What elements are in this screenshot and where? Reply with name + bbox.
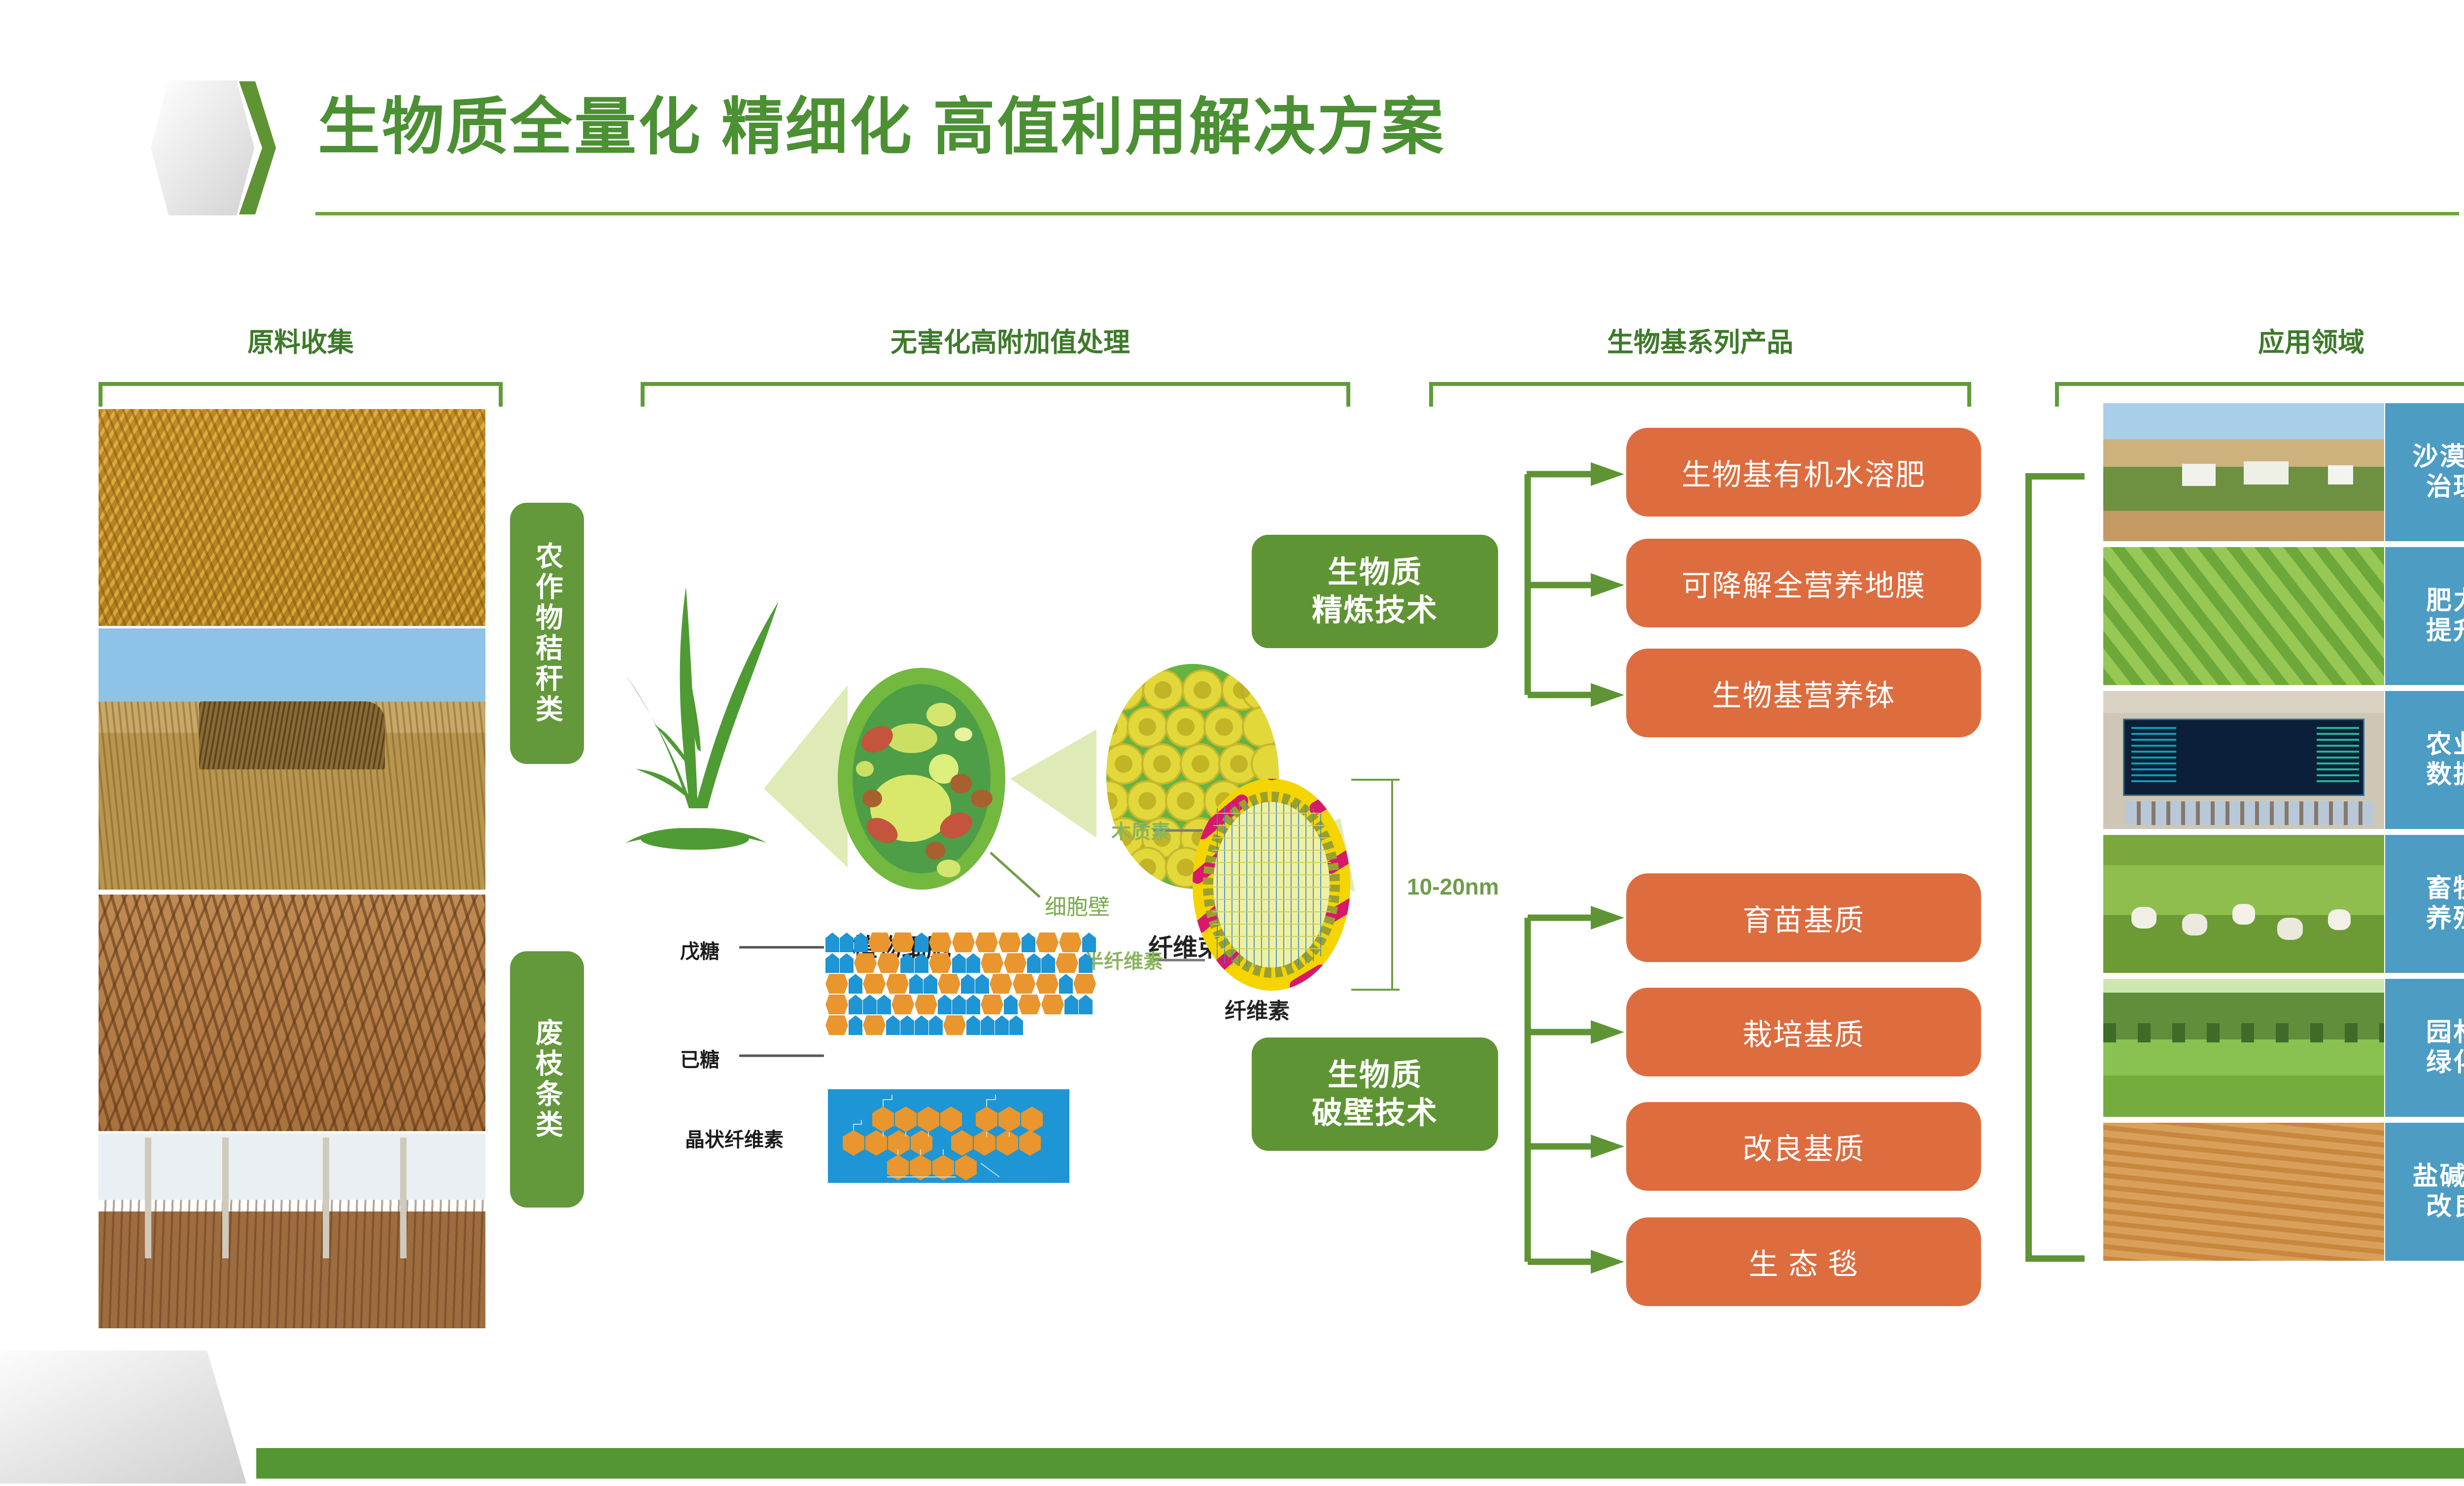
- application-photo-data-center: [2103, 691, 2384, 829]
- pentose-label: 戊糖: [680, 935, 719, 964]
- feedstock-tab-waste-branch[interactable]: 废枝条类: [510, 951, 584, 1208]
- feedstock-tab-crop-straw[interactable]: 农作物秸秆类: [510, 503, 584, 764]
- feedstock-photo-straw-bale: [99, 628, 485, 890]
- app-label-line-1: 农业: [2426, 730, 2464, 760]
- product-pill-water-soluble-fertilizer[interactable]: 生物基有机水溶肥: [1626, 428, 1981, 517]
- grass-plant-icon: [626, 587, 779, 850]
- app-label-line-2: 绿化: [2426, 1048, 2464, 1078]
- tech-line-2: 精炼技术: [1312, 591, 1438, 630]
- application-photo-saline-land: [2103, 1123, 2384, 1261]
- product-pill-cultivation-substrate[interactable]: 栽培基质: [1626, 988, 1981, 1076]
- section-heading-applications: 应用领域: [2104, 320, 2464, 359]
- footer-bar: [256, 1448, 2464, 1479]
- tech-line-2: 破壁技术: [1312, 1094, 1438, 1133]
- feedstock-photo-orchard: [99, 1134, 485, 1328]
- application-label-fertility[interactable]: 肥力 提升: [2385, 547, 2464, 685]
- product-pill-eco-blanket[interactable]: 生 态 毯: [1626, 1217, 1981, 1306]
- cellulose-label: 纤维素: [1225, 993, 1290, 1025]
- cellulose-core: [1213, 802, 1330, 968]
- app-label-line-1: 沙漠化: [2412, 442, 2464, 472]
- tech-line-1: 生物质: [1328, 553, 1422, 592]
- app-label-line-2: 数据: [2426, 760, 2464, 790]
- app-label-line-2: 养殖: [2426, 904, 2464, 934]
- application-label-agri-data[interactable]: 农业 数据: [2385, 691, 2464, 829]
- application-label-livestock[interactable]: 畜牧 养殖: [2385, 835, 2464, 973]
- application-photo-cabbage-field: [2103, 547, 2384, 685]
- hexose-label: 已糖: [680, 1044, 719, 1072]
- app-label-line-1: 畜牧: [2426, 874, 2464, 904]
- title-underline: [315, 212, 2459, 215]
- lignin-label: 木质素: [1111, 816, 1170, 844]
- feedstock-photo-corn-stalk: [99, 409, 485, 626]
- crystalline-cellulose-label: 晶状纤维素: [685, 1124, 784, 1152]
- bracket-products: [1429, 382, 1971, 407]
- magnify-cone: [1010, 729, 1096, 838]
- application-label-saline-improvement[interactable]: 盐碱地 改良: [2385, 1123, 2464, 1261]
- app-label-line-1: 园林: [2426, 1018, 2464, 1048]
- page-title: 生物质全量化 精细化 高值利用解决方案: [318, 96, 1445, 158]
- application-photo-desert-control: [2103, 403, 2384, 541]
- product-pill-seedling-substrate[interactable]: 育苗基质: [1626, 873, 1981, 962]
- trellis-post: [400, 1138, 407, 1258]
- applications-bracket: [2025, 473, 2085, 1262]
- plant-cell-diagram: [838, 668, 1005, 890]
- product-pill-nutrient-pot[interactable]: 生物基营养钵: [1626, 649, 1981, 737]
- app-label-line-1: 肥力: [2426, 586, 2464, 616]
- footer-hex-decoration: [0, 1331, 276, 1484]
- product-pill-degradable-mulch-film[interactable]: 可降解全营养地膜: [1626, 539, 1981, 627]
- trellis-post: [222, 1138, 229, 1258]
- application-label-desert-control[interactable]: 沙漠化 治理: [2385, 403, 2464, 541]
- section-heading-products: 生物基系列产品: [1404, 320, 1996, 359]
- app-label-line-1: 盐碱地: [2412, 1162, 2464, 1192]
- application-photo-landscape-green: [2103, 979, 2384, 1117]
- straw-bale-shape: [199, 701, 385, 769]
- dimension-bracket: [1351, 780, 1400, 990]
- bracket-collection: [99, 382, 503, 407]
- app-label-line-2: 治理: [2426, 472, 2464, 502]
- section-heading-collection: 原料收集: [148, 320, 453, 359]
- tech-line-1: 生物质: [1328, 1056, 1422, 1095]
- sugar-chain-illustration: {}: [680, 927, 1124, 1203]
- bracket-processing: [641, 382, 1350, 407]
- trellis-post: [323, 1138, 329, 1258]
- app-label-line-2: 改良: [2426, 1192, 2464, 1222]
- product-pill-improvement-substrate[interactable]: 改良基质: [1626, 1102, 1981, 1191]
- technology-pill-wallbreaking[interactable]: 生物质 破壁技术: [1252, 1037, 1498, 1151]
- section-heading-processing: 无害化高附加值处理: [517, 320, 1503, 359]
- crystalline-cellulose-panel: [828, 1089, 1069, 1183]
- technology-pill-refining[interactable]: 生物质 精炼技术: [1252, 535, 1498, 648]
- magnify-cone: [764, 685, 848, 867]
- header-hex-decoration: [133, 76, 276, 219]
- trellis-post: [145, 1138, 151, 1258]
- application-label-landscaping[interactable]: 园林 绿化: [2385, 979, 2464, 1117]
- sugar-grid: [825, 933, 1101, 1075]
- application-photo-sheep-grazing: [2103, 835, 2384, 973]
- cell-wall-label-text: 细胞壁: [1045, 895, 1110, 919]
- fiber-size-text: 10-20nm: [1407, 874, 1499, 899]
- cellulose-cross-section-illustration: 10-20nm: [1124, 754, 1498, 1020]
- app-label-line-2: 提升: [2426, 616, 2464, 646]
- feedstock-photo-branches: [99, 895, 485, 1131]
